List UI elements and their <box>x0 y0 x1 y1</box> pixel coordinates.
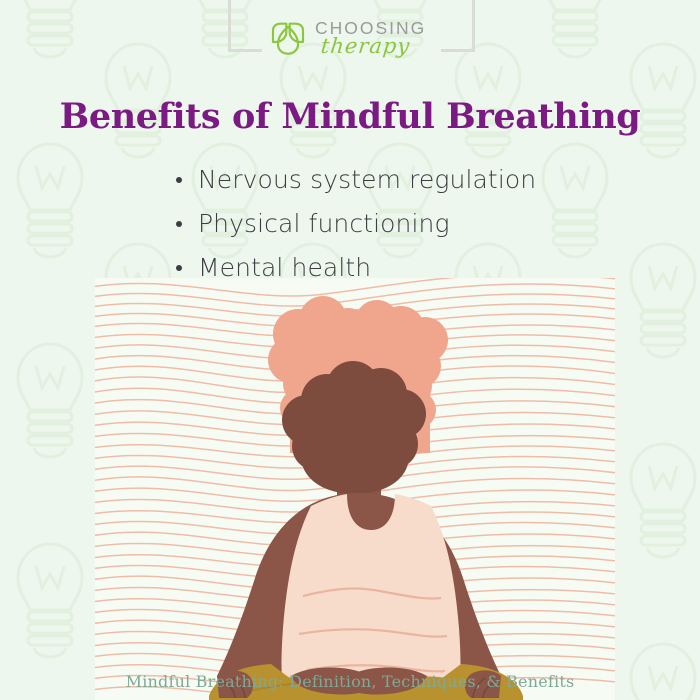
list-item: Mental health <box>172 249 536 286</box>
brand-wordmark: CHOOSING therapy <box>315 14 433 60</box>
brand-logo[interactable]: CHOOSING therapy <box>268 12 434 62</box>
benefits-list: Nervous system regulation Physical funct… <box>172 161 536 293</box>
list-item-label: Physical functioning <box>198 209 450 238</box>
lotus-leaf-icon <box>268 17 308 57</box>
list-item-label: Nervous system regulation <box>198 165 536 194</box>
list-item-label: Mental health <box>198 253 371 282</box>
list-item: Physical functioning <box>172 205 536 242</box>
meditating-woman-illustration <box>95 278 615 700</box>
page-title: Benefits of Mindful Breathing <box>0 96 700 137</box>
image-caption: Mindful Breathing: Definition, Technique… <box>0 672 700 691</box>
list-item: Nervous system regulation <box>172 161 536 198</box>
brand-name-secondary: therapy <box>320 34 412 58</box>
poster-canvas: CHOOSING therapy Benefits of Mindful Bre… <box>0 0 700 700</box>
poster-header: CHOOSING therapy <box>0 0 700 78</box>
corner-bracket-left-icon <box>228 0 262 52</box>
corner-bracket-right-icon <box>441 0 475 52</box>
